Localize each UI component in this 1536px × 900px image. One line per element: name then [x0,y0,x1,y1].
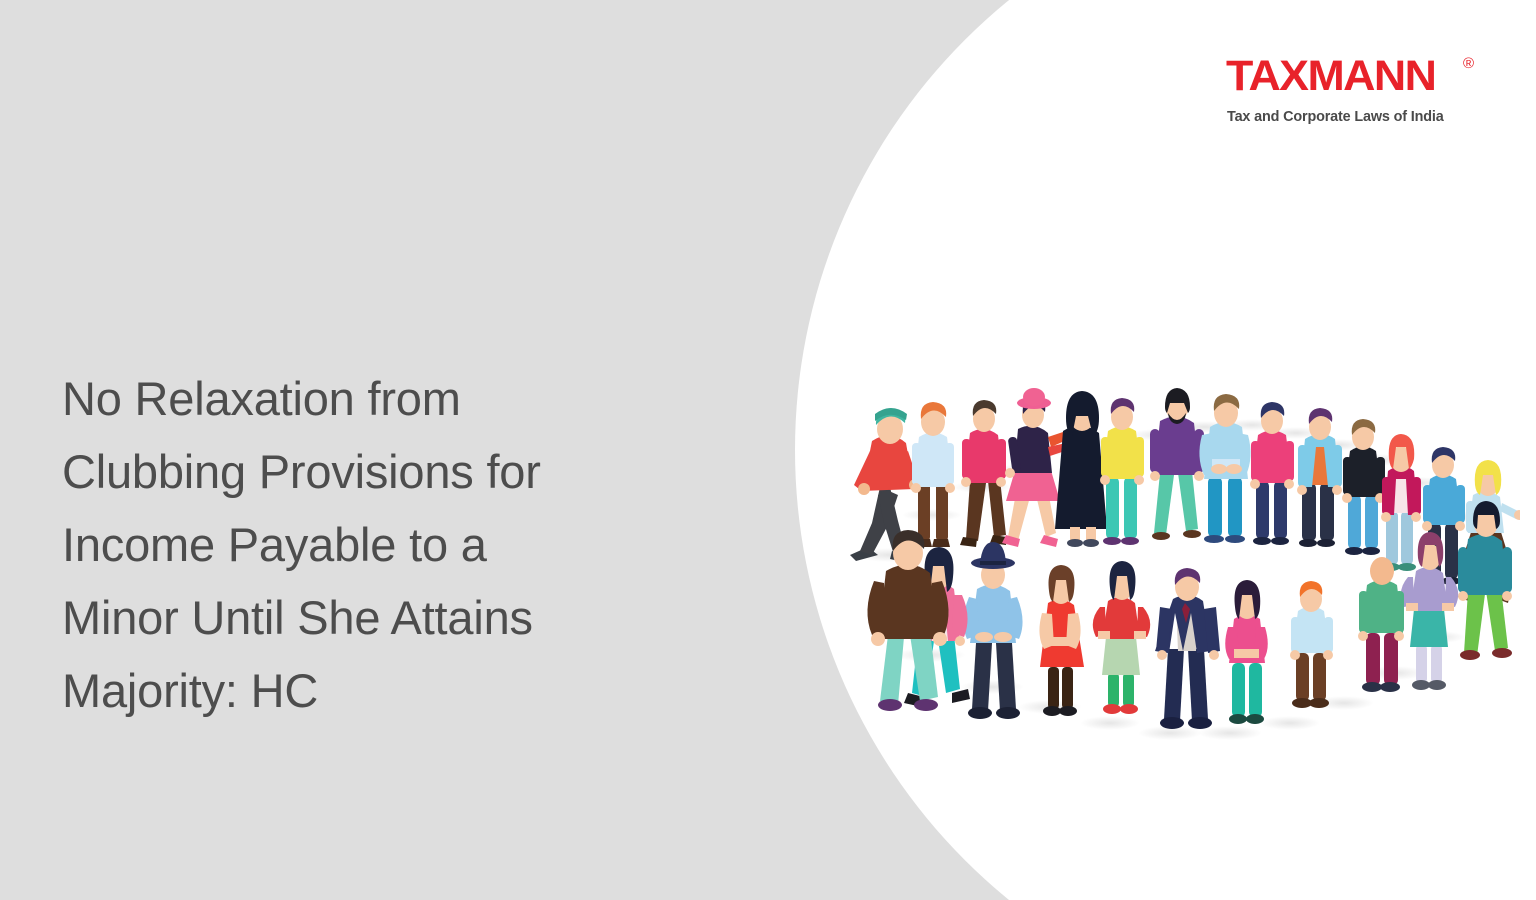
person-red-top-sage-skirt [1093,561,1150,714]
crowd-illustration [820,255,1520,775]
taxmann-tagline: Tax and Corporate Laws of India [1227,109,1444,125]
person-crimson-sweater [960,400,1007,547]
person-pink-top-teal-pants [1225,580,1268,724]
person-black-abaya [1055,391,1107,547]
person-purple-sweater-beard [1150,388,1204,540]
taxmann-wordmark: TAXMANN [1226,52,1435,100]
taxmann-logo[interactable]: TAXMANN ® Tax and Corporate Laws of Indi… [1226,52,1476,142]
person-lightblue-tshirt [911,402,955,547]
person-orange-hair-boy [1290,581,1333,708]
person-navy-suit [1155,568,1220,729]
person-red-dress [1039,565,1084,716]
page-title: No Relaxation from Clubbing Provisions f… [62,362,752,727]
poster-canvas: No Relaxation from Clubbing Provisions f… [0,0,1536,900]
person-yellow-tshirt [1100,398,1144,545]
registered-trademark-icon: ® [1463,56,1474,71]
person-lightblue-shirt-jeans [1199,394,1250,543]
